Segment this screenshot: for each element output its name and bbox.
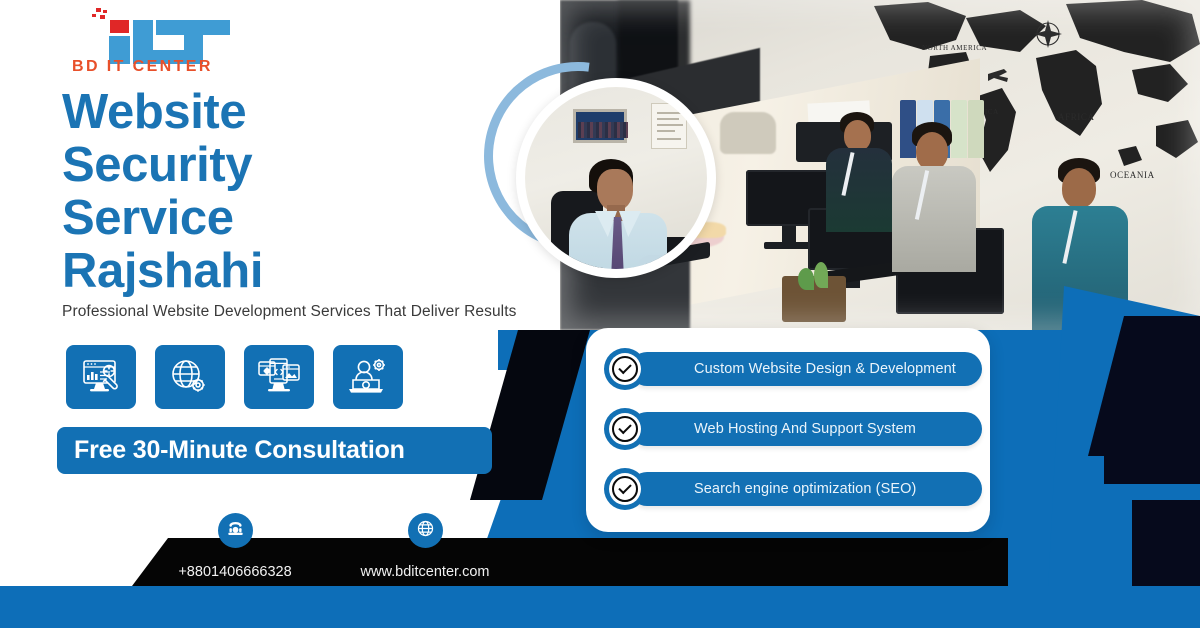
wall-photo-frame bbox=[573, 109, 627, 143]
checklist-pill: Web Hosting And Support System bbox=[630, 412, 982, 446]
contact-info: +8801406666328 www.bditcenter.com bbox=[170, 513, 550, 593]
headline-line-1: Website bbox=[62, 85, 246, 139]
feature-tile-global-services[interactable] bbox=[155, 345, 225, 409]
globe-icon bbox=[416, 519, 435, 543]
telephone-icon-circle bbox=[218, 513, 253, 548]
feature-tile-website-maintenance[interactable] bbox=[66, 345, 136, 409]
logo-mark-it-icon bbox=[86, 6, 266, 56]
contact-website[interactable]: www.bditcenter.com bbox=[335, 513, 515, 580]
globe-icon-circle bbox=[408, 513, 443, 548]
map-label-africa: AFRICA bbox=[1058, 112, 1095, 122]
company-logo[interactable]: BD IT CENTER bbox=[86, 6, 266, 78]
list-item[interactable]: Custom Website Design & Development bbox=[604, 348, 972, 390]
navy-corner-shape-2 bbox=[1104, 452, 1200, 484]
globe-gear-icon bbox=[170, 358, 210, 396]
web-design-windows-icon bbox=[258, 358, 300, 396]
developer-laptop-gear-icon bbox=[348, 358, 388, 396]
checklist-label: Web Hosting And Support System bbox=[694, 421, 916, 437]
monitor-analytics-wrench-icon bbox=[81, 358, 121, 396]
office-chair bbox=[720, 112, 776, 154]
wall-photo-group bbox=[578, 122, 628, 138]
portrait-frame bbox=[516, 78, 716, 278]
map-label-north-america: NORTH AMERICA bbox=[922, 44, 987, 52]
list-item[interactable]: Web Hosting And Support System bbox=[604, 408, 972, 450]
services-checklist-card: Custom Website Design & Development Web … bbox=[586, 328, 990, 532]
contact-phone[interactable]: +8801406666328 bbox=[170, 513, 300, 580]
feature-icon-row bbox=[66, 345, 403, 409]
staff-person-1 bbox=[824, 112, 894, 232]
checklist-pill: Custom Website Design & Development bbox=[630, 352, 982, 386]
headline-line-4: Rajshahi bbox=[62, 244, 263, 298]
logo-i-dot bbox=[110, 20, 129, 33]
checklist-label: Search engine optimization (SEO) bbox=[694, 481, 916, 497]
list-item[interactable]: Search engine optimization (SEO) bbox=[604, 468, 972, 510]
marketing-banner: NORTH AMERICA SOUTH AMERICA AFRICA OCEAN… bbox=[0, 0, 1200, 628]
logo-wordmark: BD IT CENTER bbox=[72, 58, 282, 76]
checklist-pill: Search engine optimization (SEO) bbox=[630, 472, 982, 506]
desk-plant-leaf-1 bbox=[798, 268, 814, 290]
desk-plant-leaf-2 bbox=[814, 262, 828, 288]
logo-pixel-3 bbox=[92, 14, 96, 17]
logo-pixel-1 bbox=[96, 8, 101, 12]
check-circle-icon bbox=[604, 408, 646, 450]
desk-plant-box bbox=[782, 276, 846, 322]
check-circle-icon bbox=[604, 348, 646, 390]
staff-person-2 bbox=[892, 122, 976, 272]
feature-tile-developer-support[interactable] bbox=[333, 345, 403, 409]
logo-pixel-4 bbox=[100, 15, 105, 19]
checklist-label: Custom Website Design & Development bbox=[694, 361, 956, 377]
cta-banner[interactable]: Free 30-Minute Consultation bbox=[57, 427, 492, 474]
logo-pixel-2 bbox=[103, 10, 107, 13]
portrait-photo bbox=[525, 87, 707, 269]
phone-number: +8801406666328 bbox=[170, 564, 300, 580]
wall-certificate bbox=[651, 103, 687, 149]
telephone-icon bbox=[226, 519, 245, 543]
headline-line-3: Service bbox=[62, 191, 234, 245]
page-title: Website Security Service Rajshahi bbox=[62, 86, 532, 298]
check-circle-icon bbox=[604, 468, 646, 510]
headline-line-2: Security bbox=[62, 138, 252, 192]
cta-label: Free 30-Minute Consultation bbox=[74, 436, 405, 465]
feature-tile-web-design[interactable] bbox=[244, 345, 314, 409]
website-url: www.bditcenter.com bbox=[335, 564, 515, 580]
portrait-arm bbox=[637, 255, 681, 269]
subheadline: Professional Website Development Service… bbox=[62, 303, 582, 321]
